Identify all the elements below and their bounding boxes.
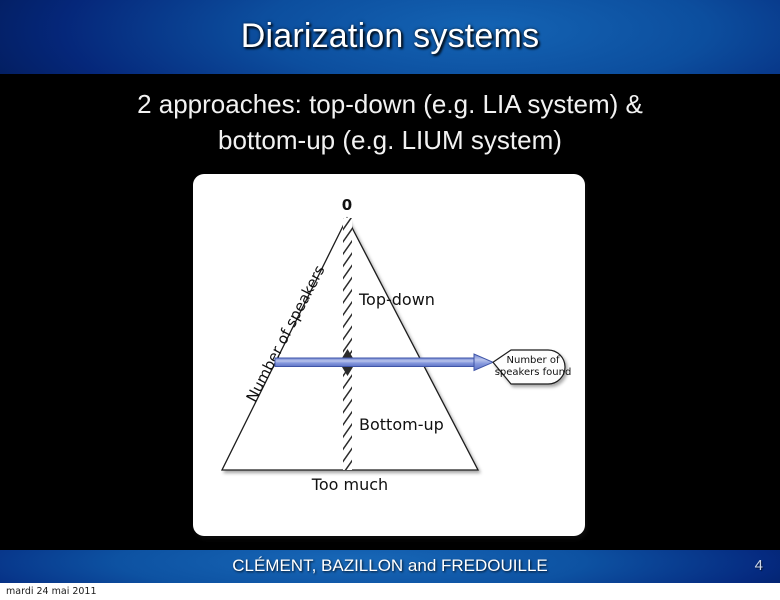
apex-zero-label: 0	[342, 196, 352, 214]
diagram-panel: 0 Top-down Bottom-up Too much Number of …	[193, 174, 585, 536]
slide: Diarization systems 2 approaches: top-do…	[0, 0, 780, 600]
subtitle-line-2: bottom-up (e.g. LIUM system)	[40, 122, 740, 158]
slide-subtitle: 2 approaches: top-down (e.g. LIA system)…	[40, 86, 740, 158]
callout-text-line-1: Number of	[507, 355, 560, 366]
hatched-band-bottom	[343, 370, 352, 470]
bottom-up-label: Bottom-up	[359, 415, 444, 434]
slide-page-number: 4	[755, 557, 763, 574]
diarization-triangle-diagram: 0 Top-down Bottom-up Too much Number of …	[193, 174, 585, 536]
top-down-label: Top-down	[358, 290, 435, 309]
date-strip	[0, 583, 780, 600]
presentation-date: mardi 24 mai 2011	[6, 586, 97, 597]
header-divider	[0, 74, 780, 81]
page-title: Diarization systems	[0, 17, 780, 56]
too-much-label: Too much	[311, 475, 388, 494]
footer-authors: CLÉMENT, BAZILLON and FREDOUILLE	[0, 556, 780, 576]
subtitle-line-1: 2 approaches: top-down (e.g. LIA system)…	[40, 86, 740, 122]
blue-arrow-head	[474, 354, 493, 371]
hatched-band-top	[343, 218, 352, 355]
slide-footer-bar: CLÉMENT, BAZILLON and FREDOUILLE 4	[0, 550, 780, 583]
callout-text-line-2: speakers found	[495, 367, 572, 378]
slide-header-bar: Diarization systems	[0, 0, 780, 74]
blue-arrow-shaft	[275, 358, 475, 367]
